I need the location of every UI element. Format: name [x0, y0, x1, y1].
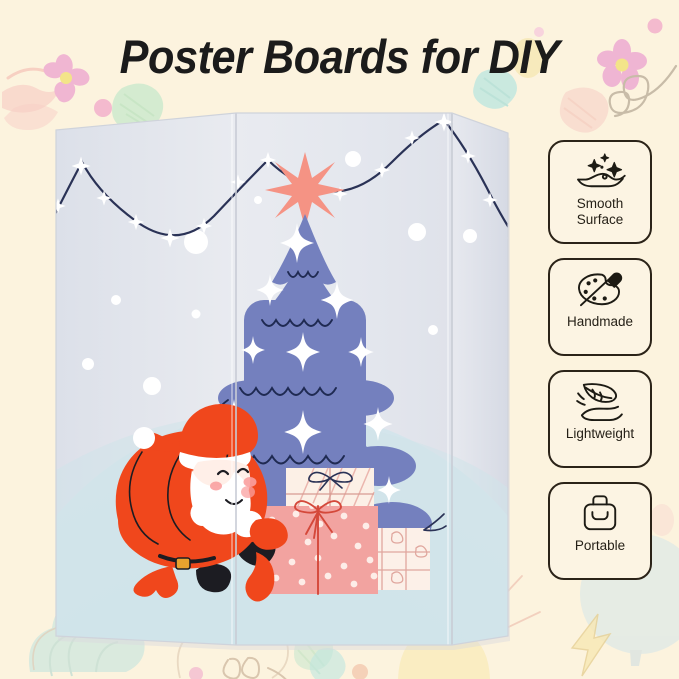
santa-head — [133, 404, 258, 535]
poster-board — [0, 113, 582, 679]
scene-ground — [0, 410, 582, 679]
feature-badge-label-line1: Lightweight — [566, 426, 634, 441]
feather-hand-icon — [573, 381, 627, 421]
board-panel-right — [452, 113, 508, 645]
briefcase-icon — [573, 493, 627, 533]
scene-christmas-tree — [182, 152, 432, 553]
feature-badge-label-line1: Smooth — [577, 196, 624, 211]
board-fold-lines — [232, 113, 452, 645]
feature-badge-lightweight[interactable]: Lightweight — [548, 370, 652, 468]
board-panel-center — [236, 113, 452, 645]
doodle-dot-pink-topleft — [94, 99, 112, 117]
gift-box-right — [358, 514, 446, 590]
feature-badge-smooth-surface[interactable]: Smooth Surface — [548, 140, 652, 244]
doodle-scribble-teal-bottom — [310, 648, 346, 679]
board-outline — [56, 113, 508, 645]
doodle-scribble-pink-topright — [560, 87, 609, 132]
doodle-cloud-bottomcenter — [178, 605, 288, 678]
feature-badge-portable[interactable]: Portable — [548, 482, 652, 580]
sparkle-hand-icon — [573, 151, 627, 191]
scene-snow-dots — [82, 151, 477, 395]
doodle-scribble-pink-left — [4, 104, 58, 130]
doodle-dot-pink-bottom — [189, 667, 203, 679]
tree-body — [182, 214, 432, 553]
gift-box-top — [286, 468, 374, 520]
tree-star-icon — [265, 152, 345, 228]
doodle-scribble-green-bottom — [294, 630, 333, 674]
feature-badge-label-line1: Portable — [575, 538, 625, 553]
gift-box-main — [258, 501, 378, 594]
doodle-squiggle-bottom — [223, 658, 288, 679]
doodle-cloud-bottomleft — [29, 600, 147, 676]
scene-gift-boxes — [258, 468, 446, 594]
palette-brush-icon — [573, 269, 627, 309]
feature-badge-handmade[interactable]: Handmade — [548, 258, 652, 356]
scene-santa — [116, 404, 288, 602]
feature-badge-list: Smooth Surface Handmade — [548, 140, 658, 594]
tree-garland — [206, 272, 350, 532]
scene-string-lights — [30, 113, 524, 257]
poster-product-image: Poster Boards for DIY Smooth Surface — [0, 0, 679, 679]
page-title: Poster Boards for DIY — [27, 22, 652, 92]
doodle-bolt-bottomright — [572, 614, 610, 676]
doodle-sun-bottomright — [332, 548, 540, 679]
feature-badge-label-line1: Handmade — [567, 314, 633, 329]
tree-sparkles — [204, 223, 401, 511]
doodle-dot-pink-bottom-2 — [352, 664, 368, 679]
feature-badge-label-line2: Surface — [577, 212, 624, 227]
board-panel-left — [56, 113, 236, 645]
